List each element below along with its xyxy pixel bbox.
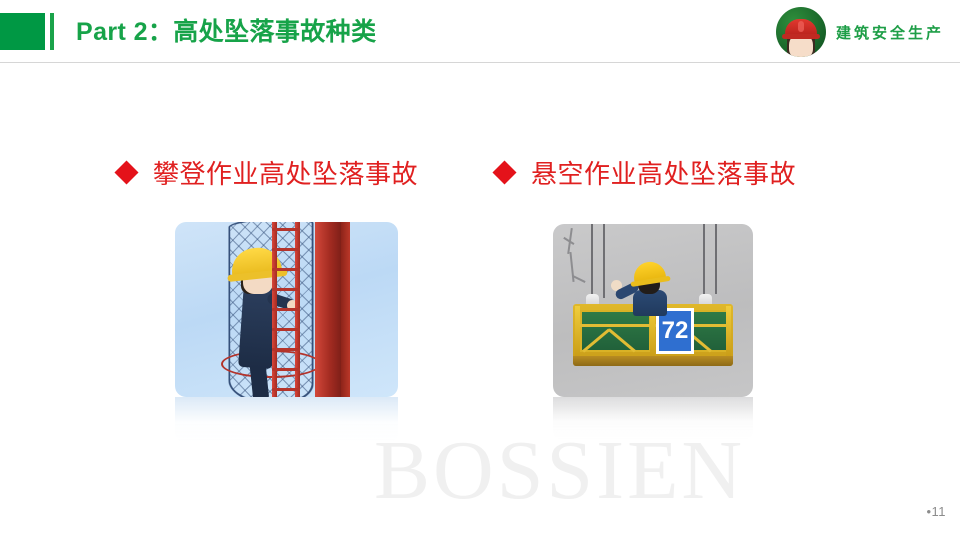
bullet-item-1: 攀登作业高处坠落事故	[118, 154, 418, 191]
header-divider	[0, 62, 960, 63]
suspension-rope	[703, 224, 705, 296]
ladder-rung	[272, 388, 300, 391]
ladder-rung	[272, 368, 300, 371]
diamond-bullet-icon	[492, 160, 516, 184]
page-number: •11	[926, 504, 946, 519]
platform-post	[726, 306, 731, 358]
construction-safety-badge-icon	[776, 7, 826, 57]
ladder-rung	[272, 328, 300, 331]
suspension-rope	[591, 224, 593, 300]
hard-hat-icon	[785, 19, 817, 36]
watermark: BOSSIEN	[374, 422, 745, 519]
page-title: Part 2：高处坠落事故种类	[76, 13, 376, 51]
steel-column-edge	[341, 222, 350, 397]
bullet-item-2: 悬空作业高处坠落事故	[496, 154, 796, 191]
figure-suspended-platform: 72	[553, 224, 753, 397]
figure-climbing-ladder	[175, 222, 398, 397]
header-accent-bar	[50, 13, 54, 50]
slide-header: Part 2：高处坠落事故种类 建筑安全生产	[0, 0, 960, 63]
ladder-rung	[272, 268, 300, 271]
wall-crack	[563, 228, 591, 290]
header-accent-square	[0, 13, 45, 50]
suspension-rope	[603, 224, 605, 298]
ladder-rung	[272, 228, 300, 231]
ladder-rung	[272, 348, 300, 351]
ladder-rung	[272, 308, 300, 311]
brand-logo: 建筑安全生产	[776, 6, 944, 58]
diamond-bullet-icon	[114, 160, 138, 184]
platform-floor	[573, 356, 733, 366]
ladder-rung	[272, 248, 300, 251]
platform-post	[575, 306, 580, 358]
bullet-label-1: 攀登作业高处坠落事故	[153, 154, 418, 191]
suspension-rope	[715, 224, 717, 294]
ladder-rung	[272, 288, 300, 291]
steel-column	[315, 222, 341, 397]
yellow-hard-hat-icon	[632, 260, 667, 284]
brand-logo-label: 建筑安全生产	[836, 22, 944, 43]
slide: BOSSIEN Part 2：高处坠落事故种类 建筑安全生产 攀登作业高处坠落事…	[0, 0, 960, 540]
bullet-label-2: 悬空作业高处坠落事故	[531, 154, 796, 191]
figure-reflection-1	[175, 397, 398, 443]
